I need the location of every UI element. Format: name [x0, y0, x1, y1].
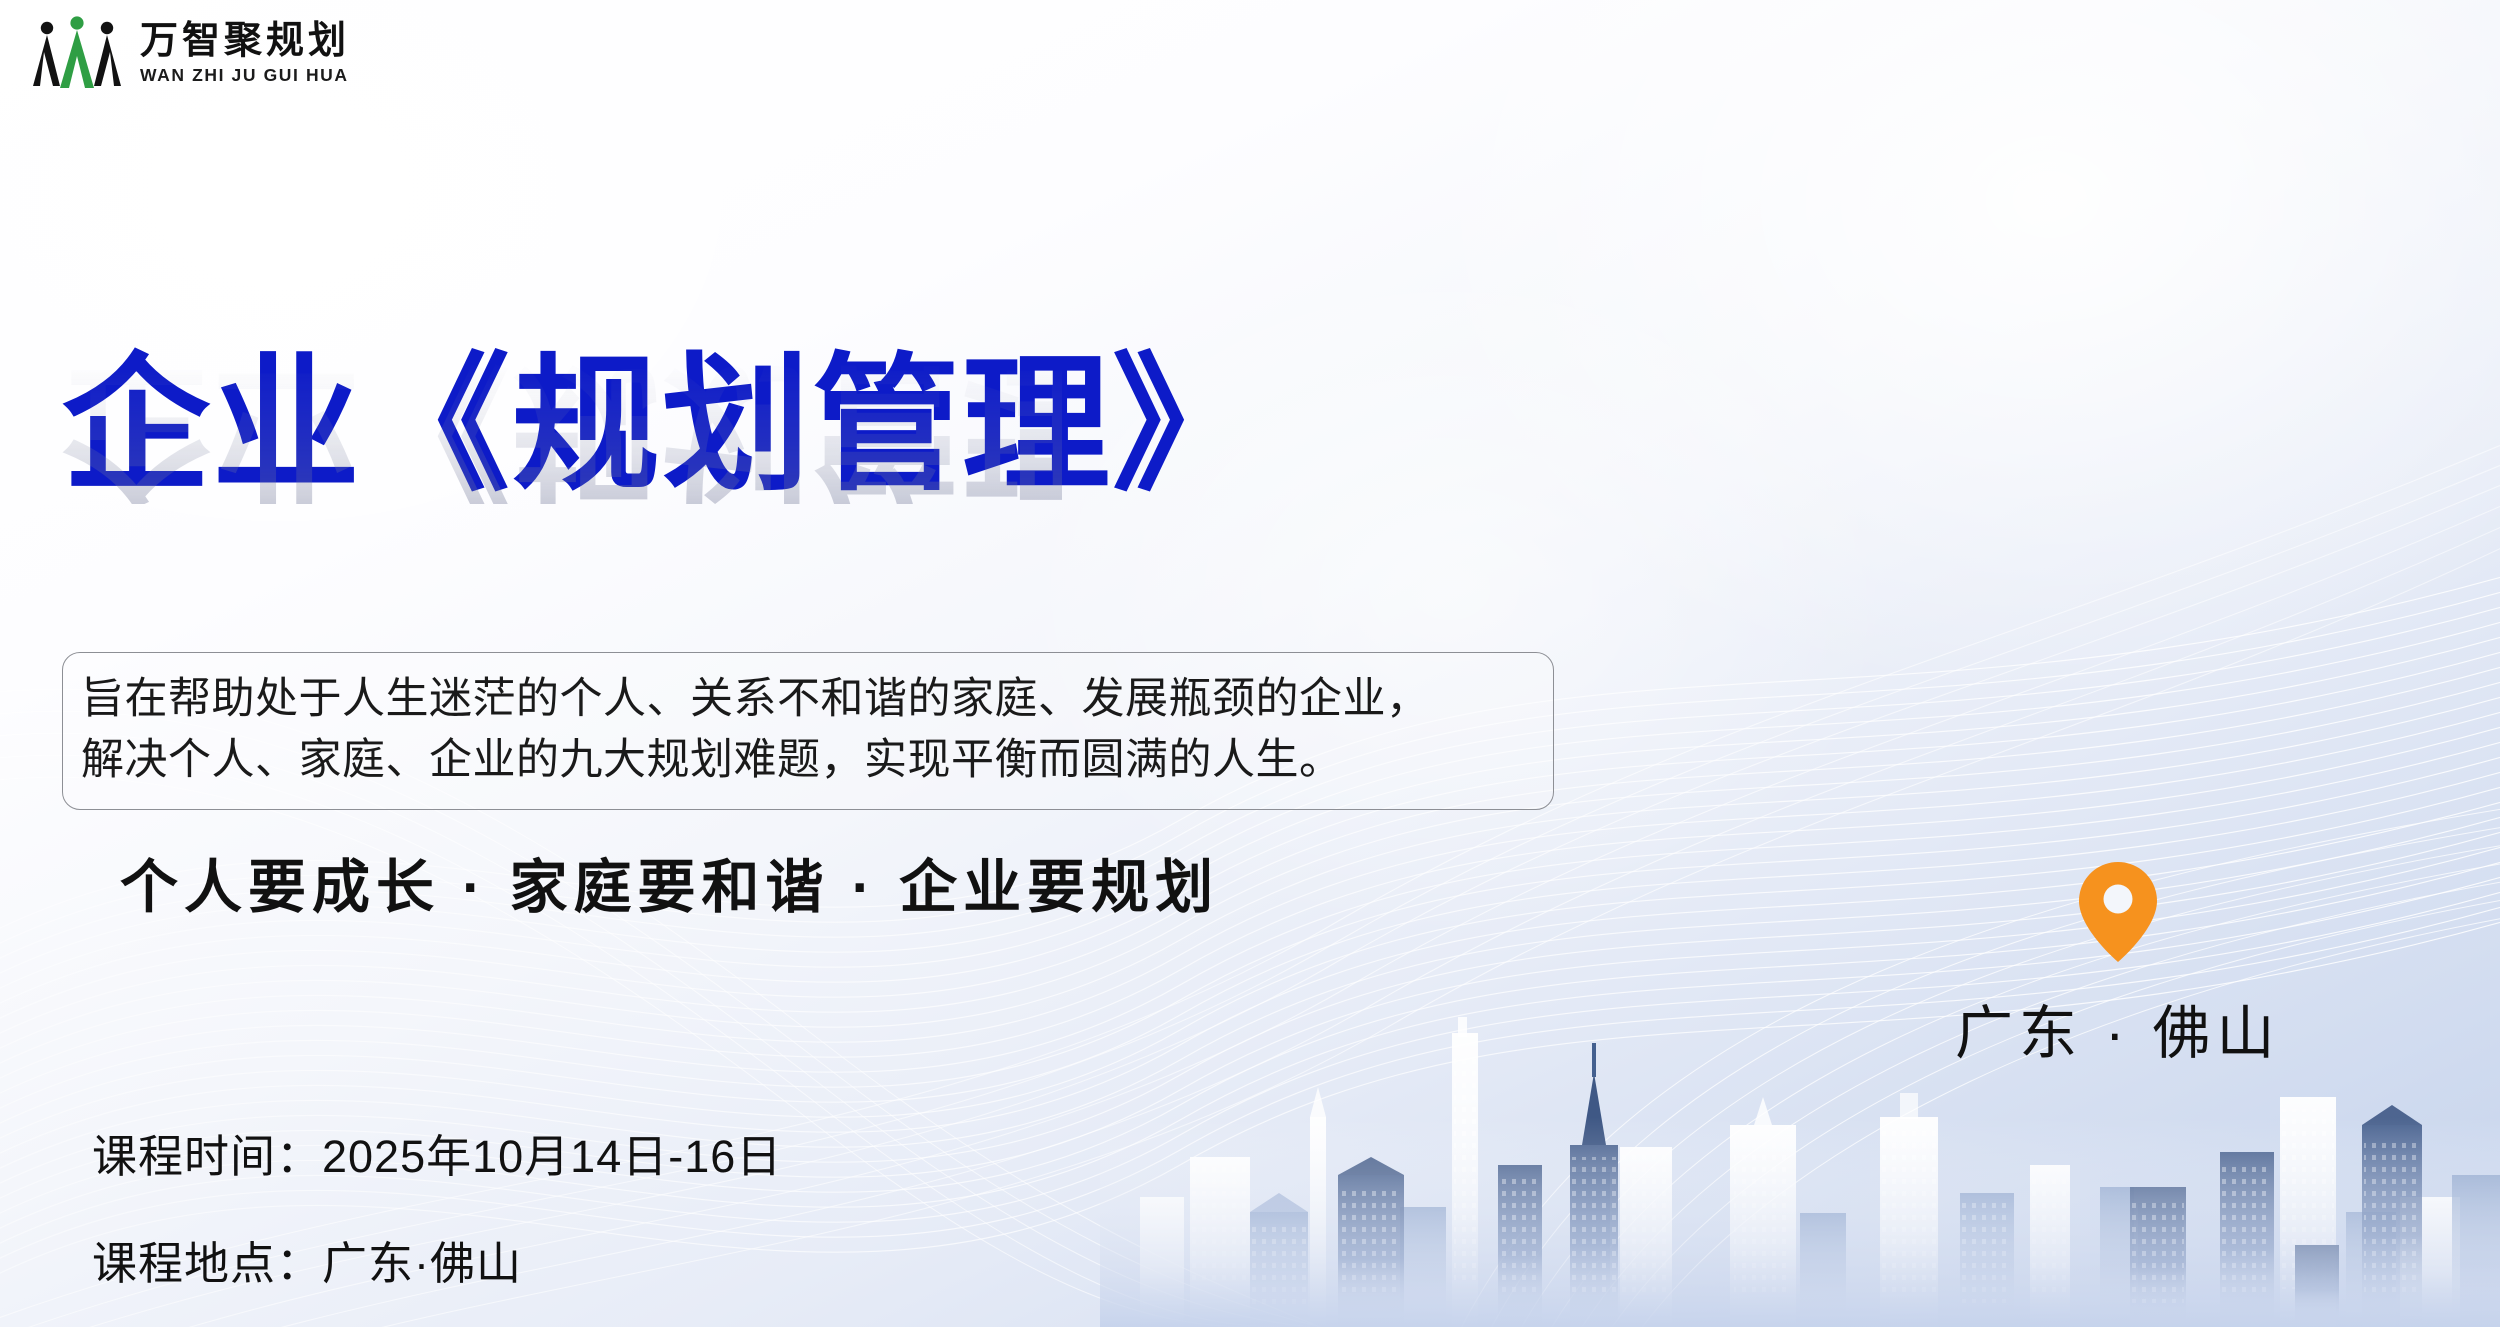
page-title-reflection: 企业《规划管理》	[62, 356, 1062, 504]
brand-logo: 万智聚规划 WAN ZHI JU GUI HUA	[30, 16, 350, 90]
location-badge: 广东 · 佛山	[1955, 860, 2281, 1070]
tagline: 个人要成长 · 家庭要和谐 · 企业要规划	[120, 840, 1219, 924]
course-info-block: 课程时间：2025年10月14日-16日 课程地点：广东·佛山	[92, 1120, 782, 1292]
city-skyline-illustration	[1100, 997, 2500, 1327]
logo-name-en: WAN ZHI JU GUI HUA	[140, 67, 350, 85]
promo-banner: 万智聚规划 WAN ZHI JU GUI HUA 企业《规划管理》 企业《规划管…	[0, 0, 2500, 1327]
main-title-block: 企业《规划管理》 企业《规划管理》	[62, 352, 1062, 652]
location-label: 广东 · 佛山	[1955, 986, 2281, 1070]
light-blob-right	[1400, 0, 2500, 700]
logo-name-cn: 万智聚规划	[140, 22, 350, 60]
three-figures-logo-icon	[30, 16, 124, 90]
description-line-1: 旨在帮助处于人生迷茫的个人、关系不和谐的家庭、发展瓶颈的企业，	[81, 669, 1531, 730]
map-pin-icon	[2076, 860, 2160, 964]
course-time: 课程时间：2025年10月14日-16日	[92, 1120, 782, 1185]
description-line-2: 解决个人、家庭、企业的九大规划难题，实现平衡而圆满的人生。	[81, 730, 1531, 791]
description-box: 旨在帮助处于人生迷茫的个人、关系不和谐的家庭、发展瓶颈的企业， 解决个人、家庭、…	[62, 652, 1554, 810]
course-place: 课程地点：广东·佛山	[92, 1227, 782, 1292]
